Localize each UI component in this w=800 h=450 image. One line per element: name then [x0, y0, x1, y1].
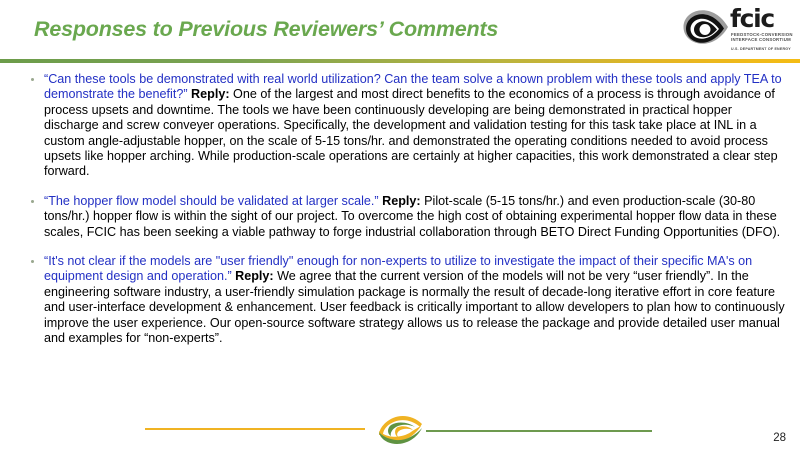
list-item: “Can these tools be demonstrated with re…	[30, 72, 786, 180]
fcic-wordmark: fcic	[730, 6, 774, 31]
slide-footer: 28	[0, 402, 800, 450]
reply-label: Reply:	[382, 194, 421, 208]
footer-divider-left	[145, 428, 365, 430]
bullet-dot-icon	[31, 78, 34, 81]
reply-label: Reply:	[191, 87, 230, 101]
fcic-agency-label: U.S. DEPARTMENT OF ENERGY	[731, 47, 791, 51]
fcic-eye-swirl-icon	[683, 8, 729, 46]
footer-divider-right	[426, 430, 652, 432]
slide-header: Responses to Previous Reviewers’ Comment…	[0, 0, 800, 62]
fcic-subtitle: FEEDSTOCK-CONVERSION INTERFACE CONSORTIU…	[731, 32, 795, 43]
fcic-leaf-eye-icon	[376, 415, 424, 445]
reviewer-comment-quote: “The hopper flow model should be validat…	[44, 194, 379, 208]
fcic-logo: fcic FEEDSTOCK-CONVERSION INTERFACE CONS…	[683, 6, 795, 56]
bullet-dot-icon	[31, 260, 34, 263]
list-item: “It's not clear if the models are "user …	[30, 254, 786, 346]
bullet-dot-icon	[31, 200, 34, 203]
reply-label: Reply:	[235, 269, 274, 283]
slide-body: “Can these tools be demonstrated with re…	[0, 72, 800, 402]
page-number: 28	[773, 432, 786, 444]
page-title: Responses to Previous Reviewers’ Comment…	[34, 17, 498, 42]
slide: Responses to Previous Reviewers’ Comment…	[0, 0, 800, 450]
list-item: “The hopper flow model should be validat…	[30, 194, 786, 240]
header-divider	[0, 59, 800, 63]
